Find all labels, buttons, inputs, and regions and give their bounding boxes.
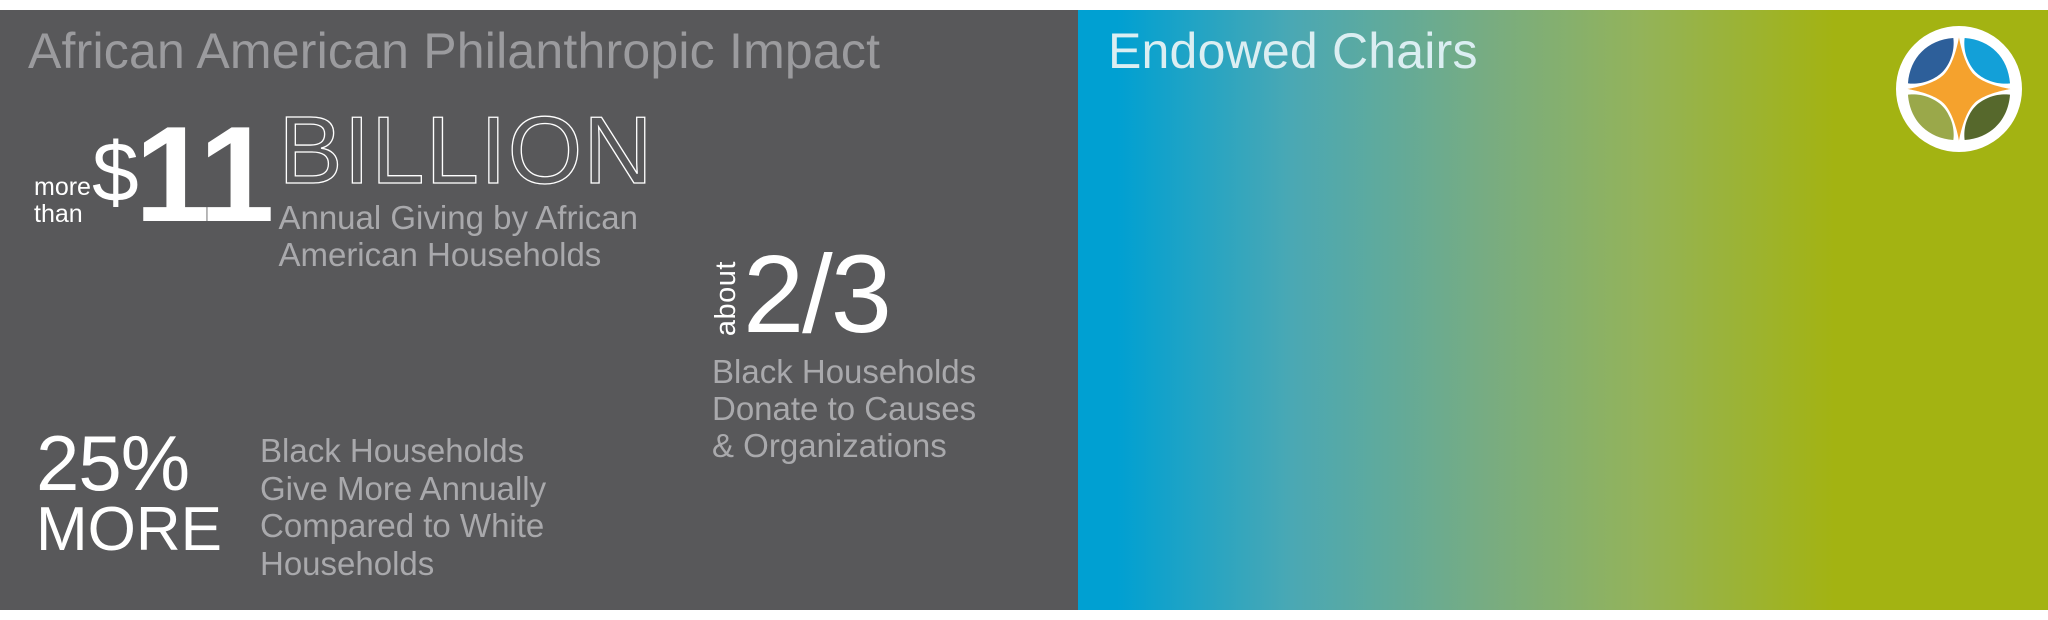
two-thirds-desc-line-2: Donate to Causes <box>712 391 1052 428</box>
percent-description: Black Households Give More Annually Comp… <box>260 432 546 582</box>
billion-desc-line-2: American Households <box>278 237 653 274</box>
qualifier-line-1: more <box>34 174 91 201</box>
billion-text-column: BILLION Annual Giving by African America… <box>278 112 653 274</box>
right-panel: Endowed Chairs <box>1078 10 2048 610</box>
organization-logo <box>1896 26 2022 152</box>
two-thirds-number: 2/3 <box>743 250 890 340</box>
percent-desc-line-2: Give More Annually <box>260 470 546 508</box>
percent-desc-line-4: Households <box>260 545 546 583</box>
two-thirds-desc-line-3: & Organizations <box>712 428 1052 465</box>
stat-billion: more than $ 11 BILLION Annual Giving by … <box>34 110 654 274</box>
currency-symbol: $ <box>92 130 139 214</box>
two-thirds-row: about 2/3 <box>712 250 1052 340</box>
two-thirds-description: Black Households Donate to Causes & Orga… <box>712 354 1052 465</box>
percent-suffix: MORE <box>36 500 260 561</box>
left-panel-title: African American Philanthropic Impact <box>28 22 880 80</box>
percent-number-column: 25% MORE <box>36 428 260 561</box>
percent-desc-line-1: Black Households <box>260 432 546 470</box>
billion-number: 11 <box>135 116 271 233</box>
percent-desc-line-3: Compared to White <box>260 507 546 545</box>
stat-two-thirds: about 2/3 Black Households Donate to Cau… <box>712 250 1052 465</box>
circular-quadrant-star-icon <box>1896 26 2022 152</box>
billion-desc-line-1: Annual Giving by African <box>278 200 653 237</box>
qualifier-line-2: than <box>34 201 91 228</box>
percent-number: 25% <box>36 428 260 500</box>
about-qualifier: about <box>712 261 741 336</box>
billion-unit-word: BILLION <box>278 112 653 191</box>
more-than-qualifier: more than <box>34 110 91 228</box>
right-panel-title: Endowed Chairs <box>1108 22 1478 80</box>
billion-description: Annual Giving by African American Househ… <box>278 200 653 274</box>
stat-twenty-five-percent: 25% MORE Black Households Give More Annu… <box>36 428 546 582</box>
left-panel: African American Philanthropic Impact mo… <box>0 10 1078 610</box>
infographic-root: African American Philanthropic Impact mo… <box>0 0 2048 620</box>
two-thirds-desc-line-1: Black Households <box>712 354 1052 391</box>
